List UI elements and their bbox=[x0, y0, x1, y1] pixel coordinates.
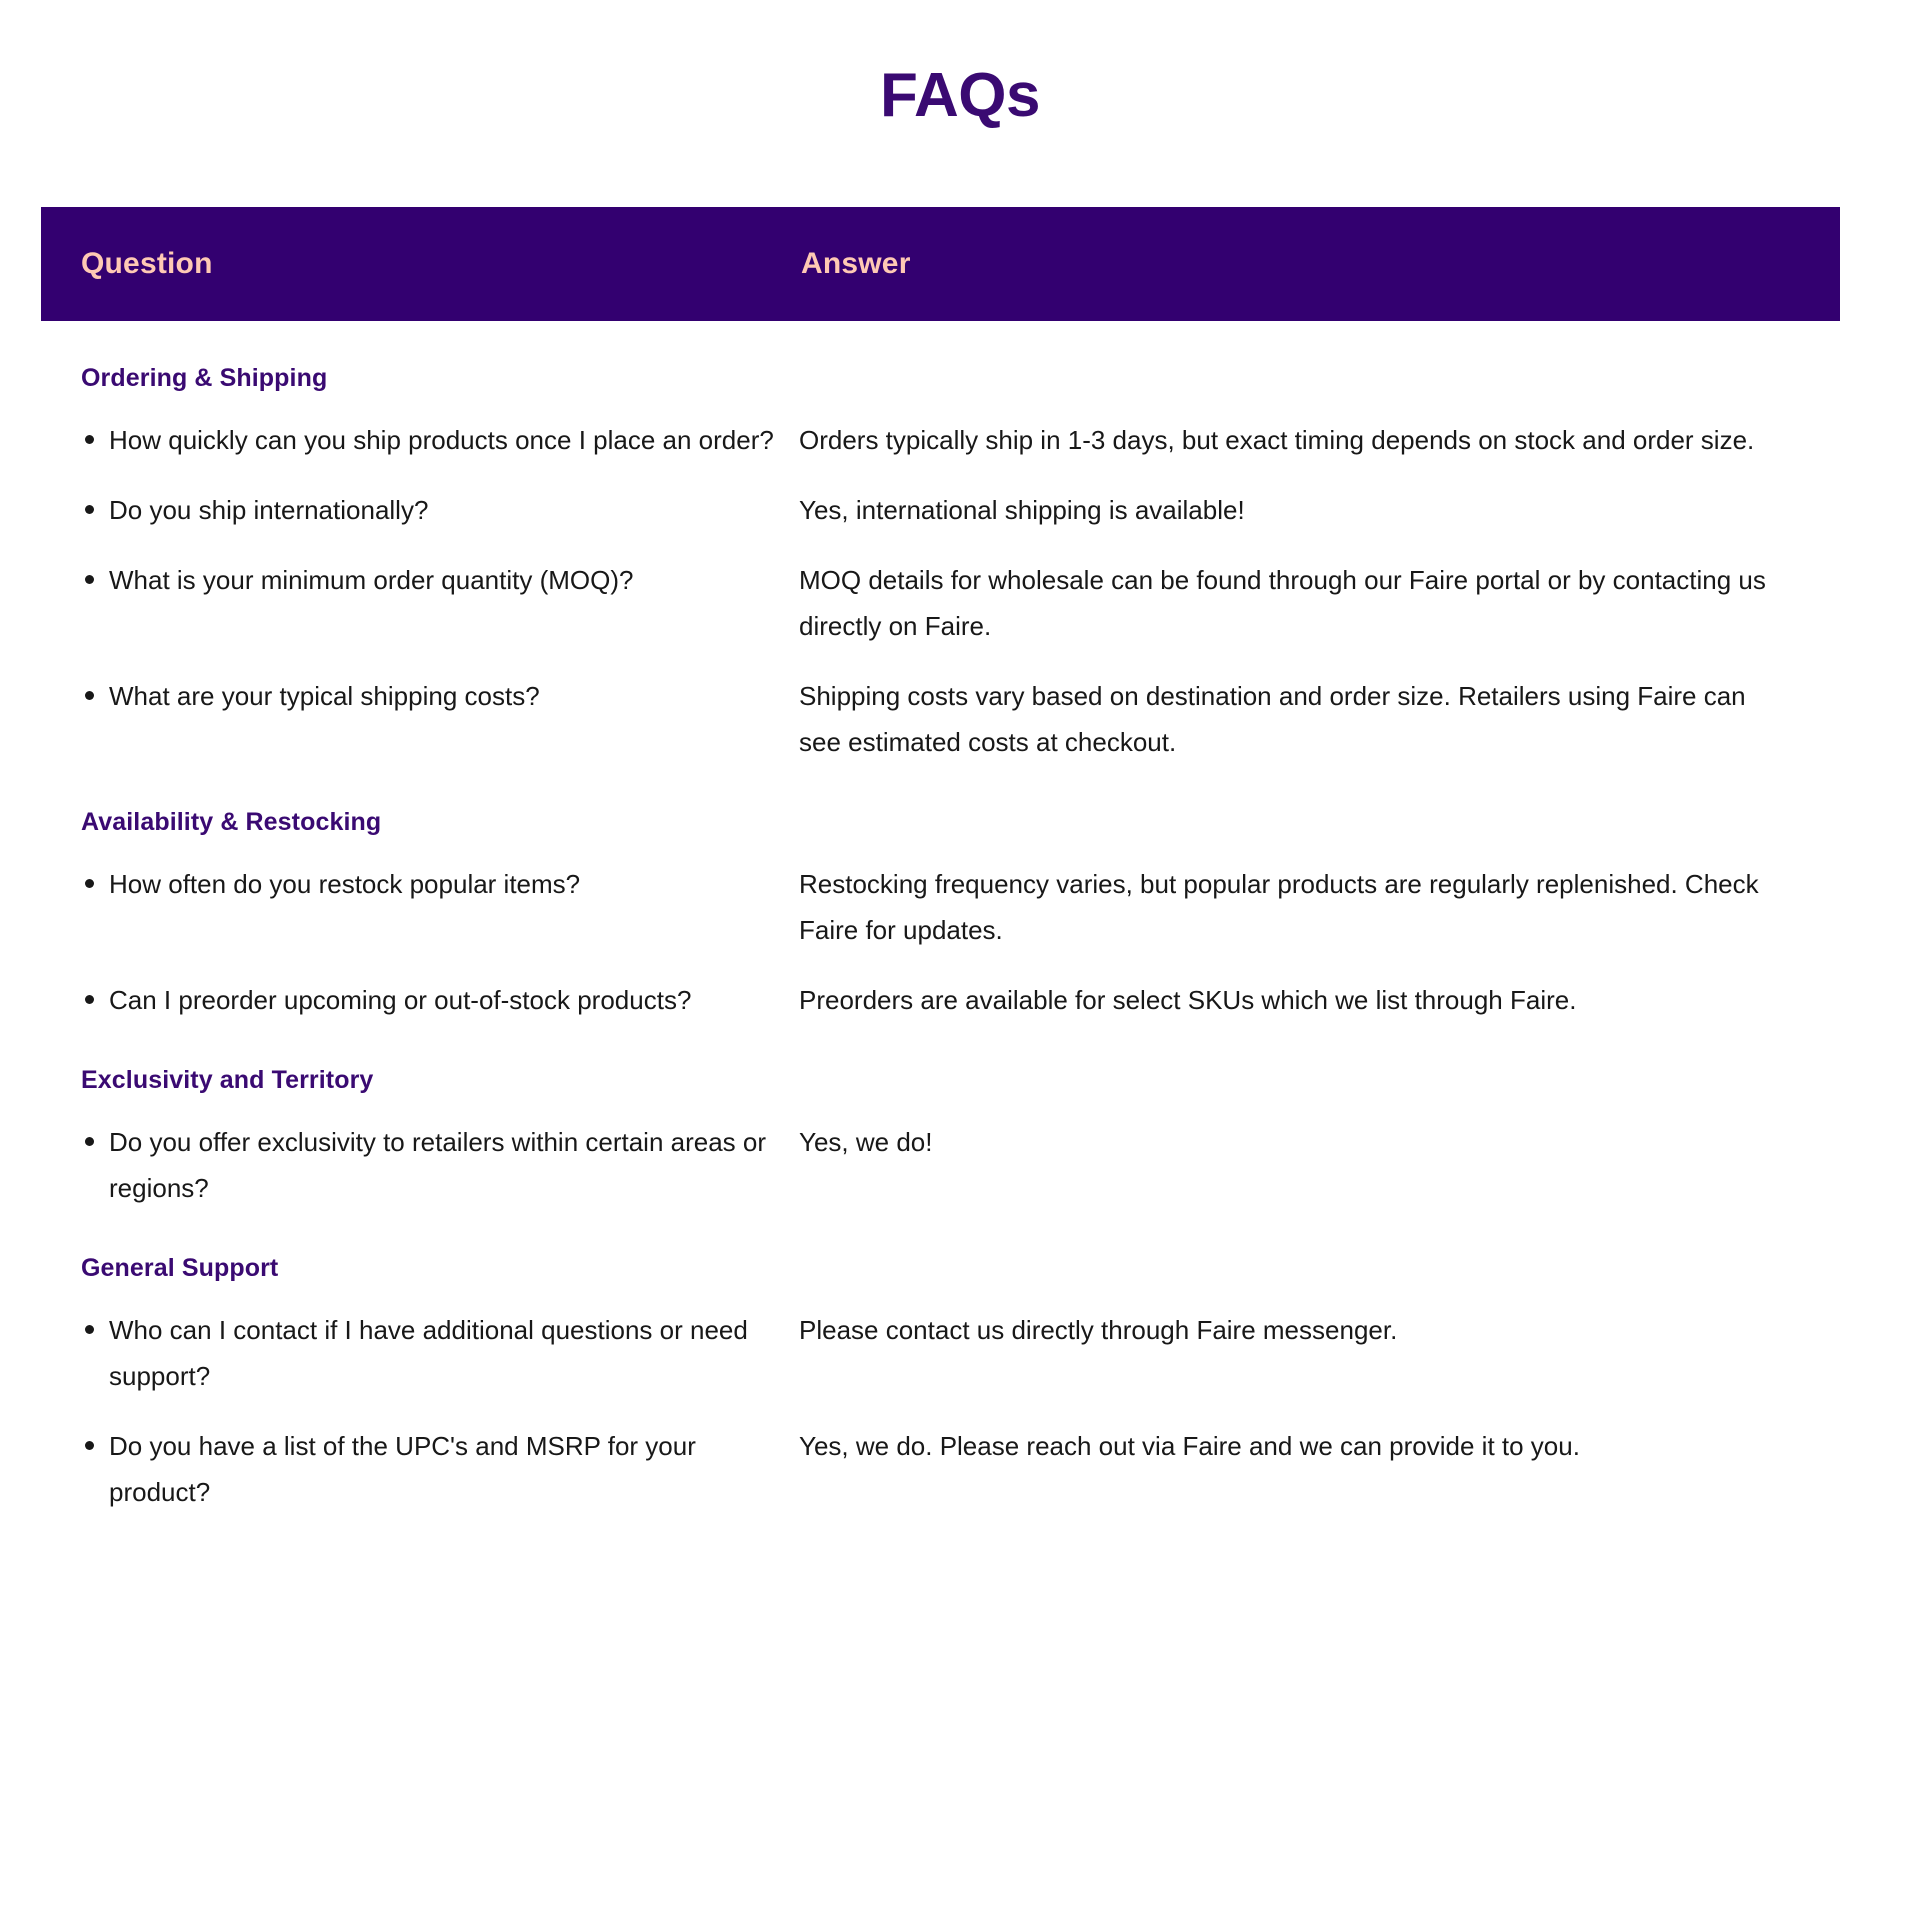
bullet-icon bbox=[85, 691, 94, 700]
column-header-question: Question bbox=[41, 247, 799, 281]
faq-answer: Shipping costs vary based on destination… bbox=[799, 673, 1840, 765]
faq-row: Who can I contact if I have additional q… bbox=[41, 1283, 1840, 1399]
faq-answer: Restocking frequency varies, but popular… bbox=[799, 861, 1840, 953]
faq-row: How often do you restock popular items?R… bbox=[41, 837, 1840, 953]
faq-question-text: Do you have a list of the UPC's and MSRP… bbox=[109, 1431, 696, 1507]
faq-question-text: How often do you restock popular items? bbox=[109, 869, 580, 899]
faq-answer: Yes, we do. Please reach out via Faire a… bbox=[799, 1423, 1840, 1469]
column-header-answer: Answer bbox=[799, 247, 1840, 281]
page-title: FAQs bbox=[0, 0, 1920, 130]
faq-question-text: What are your typical shipping costs? bbox=[109, 681, 540, 711]
bullet-icon bbox=[85, 435, 94, 444]
bullet-icon bbox=[85, 575, 94, 584]
faq-question: What is your minimum order quantity (MOQ… bbox=[41, 557, 799, 603]
faq-row: Do you ship internationally?Yes, interna… bbox=[41, 463, 1840, 533]
faq-row: Do you offer exclusivity to retailers wi… bbox=[41, 1095, 1840, 1211]
faq-answer: Yes, we do! bbox=[799, 1119, 1840, 1165]
faq-row: Can I preorder upcoming or out-of-stock … bbox=[41, 953, 1840, 1023]
faq-question: Who can I contact if I have additional q… bbox=[41, 1307, 799, 1399]
faq-question: How often do you restock popular items? bbox=[41, 861, 799, 907]
faq-question-text: How quickly can you ship products once I… bbox=[109, 425, 774, 455]
faq-answer: Please contact us directly through Faire… bbox=[799, 1307, 1840, 1353]
faq-row: What is your minimum order quantity (MOQ… bbox=[41, 533, 1840, 649]
section-title: Ordering & Shipping bbox=[41, 321, 1840, 393]
faq-section: Exclusivity and TerritoryDo you offer ex… bbox=[41, 1023, 1840, 1211]
bullet-icon bbox=[85, 1325, 94, 1334]
faq-table-body: Ordering & ShippingHow quickly can you s… bbox=[41, 321, 1840, 1515]
faq-row: Do you have a list of the UPC's and MSRP… bbox=[41, 1399, 1840, 1515]
faq-question: Do you ship internationally? bbox=[41, 487, 799, 533]
section-title: Exclusivity and Territory bbox=[41, 1023, 1840, 1095]
faq-answer: Preorders are available for select SKUs … bbox=[799, 977, 1840, 1023]
faq-question-text: Do you ship internationally? bbox=[109, 495, 428, 525]
faq-question-text: Do you offer exclusivity to retailers wi… bbox=[109, 1127, 766, 1203]
faq-section: Availability & RestockingHow often do yo… bbox=[41, 765, 1840, 1023]
faq-section: General SupportWho can I contact if I ha… bbox=[41, 1211, 1840, 1515]
faq-question-text: Can I preorder upcoming or out-of-stock … bbox=[109, 985, 691, 1015]
faq-table-header: Question Answer bbox=[41, 207, 1840, 321]
faq-page: FAQs Question Answer Ordering & Shipping… bbox=[0, 0, 1920, 1920]
faq-row: What are your typical shipping costs?Shi… bbox=[41, 649, 1840, 765]
faq-question: Do you have a list of the UPC's and MSRP… bbox=[41, 1423, 799, 1515]
bullet-icon bbox=[85, 879, 94, 888]
faq-answer: MOQ details for wholesale can be found t… bbox=[799, 557, 1840, 649]
faq-question-text: Who can I contact if I have additional q… bbox=[109, 1315, 748, 1391]
faq-question-text: What is your minimum order quantity (MOQ… bbox=[109, 565, 633, 595]
section-title: General Support bbox=[41, 1211, 1840, 1283]
faq-question: What are your typical shipping costs? bbox=[41, 673, 799, 719]
bullet-icon bbox=[85, 505, 94, 514]
faq-section: Ordering & ShippingHow quickly can you s… bbox=[41, 321, 1840, 765]
faq-question: Can I preorder upcoming or out-of-stock … bbox=[41, 977, 799, 1023]
faq-row: How quickly can you ship products once I… bbox=[41, 393, 1840, 463]
faq-answer: Orders typically ship in 1-3 days, but e… bbox=[799, 417, 1840, 463]
faq-answer: Yes, international shipping is available… bbox=[799, 487, 1840, 533]
section-title: Availability & Restocking bbox=[41, 765, 1840, 837]
bullet-icon bbox=[85, 1441, 94, 1450]
faq-question: Do you offer exclusivity to retailers wi… bbox=[41, 1119, 799, 1211]
faq-question: How quickly can you ship products once I… bbox=[41, 417, 799, 463]
bullet-icon bbox=[85, 995, 94, 1004]
bullet-icon bbox=[85, 1137, 94, 1146]
